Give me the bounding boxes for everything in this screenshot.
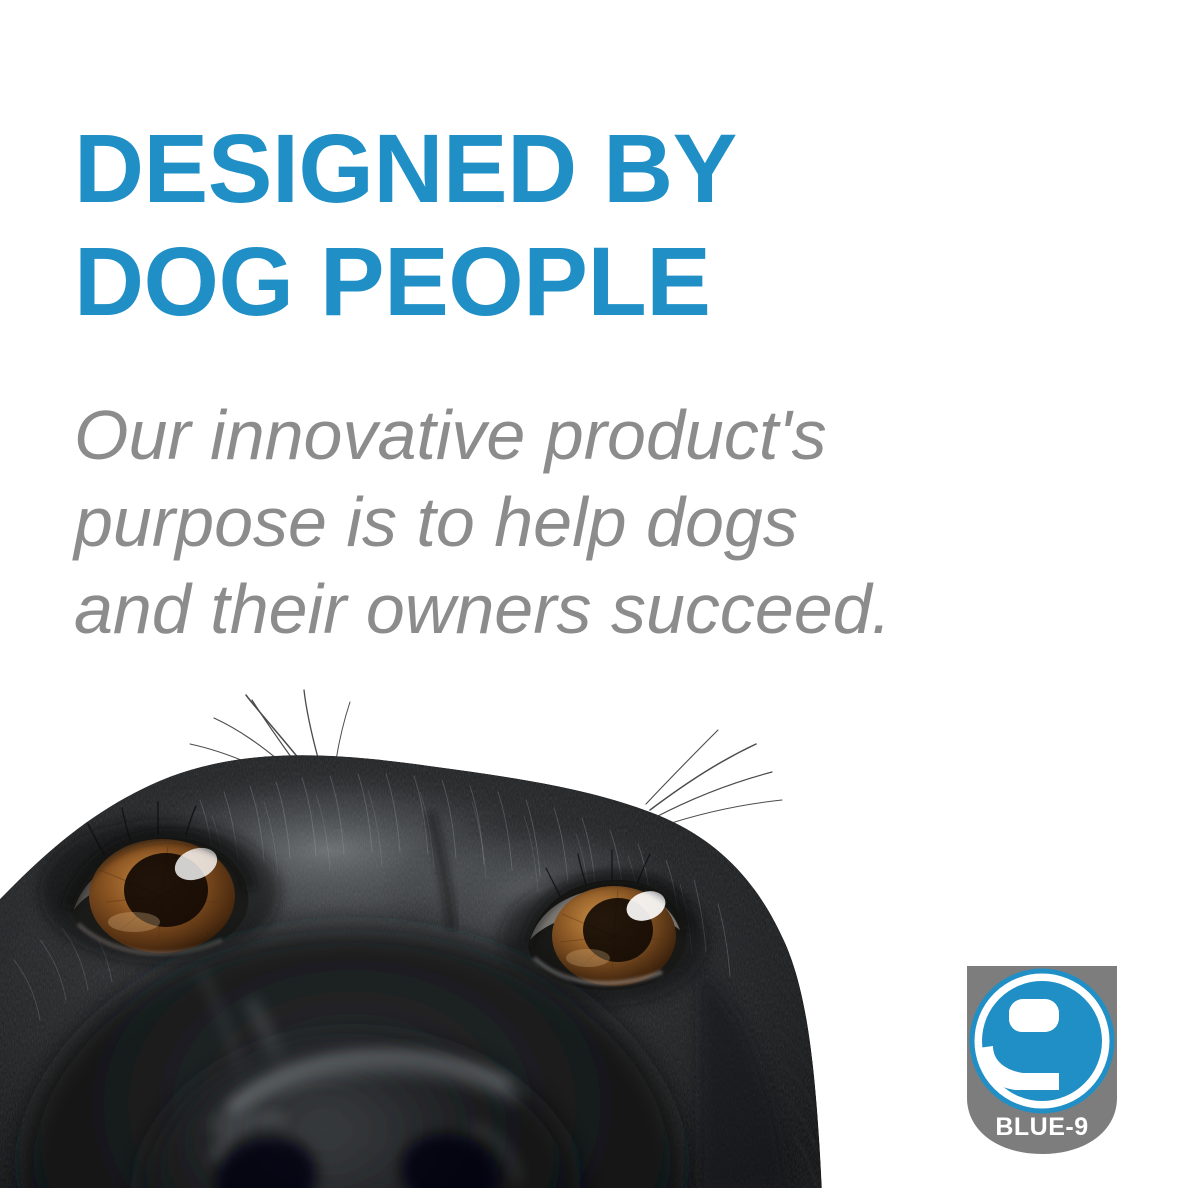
subtitle-line-2: purpose is to help dogs <box>74 479 1014 566</box>
subtitle: Our innovative product's purpose is to h… <box>74 392 1014 653</box>
headline-line-1: DESIGNED BY <box>74 112 834 225</box>
marketing-banner: DESIGNED BY DOG PEOPLE Our innovative pr… <box>0 0 1200 1200</box>
brand-logo[interactable]: BLUE-9 <box>963 962 1121 1162</box>
subtitle-line-1: Our innovative product's <box>74 392 1014 479</box>
blue9-logo-icon[interactable]: BLUE-9 <box>963 962 1121 1162</box>
logo-wordmark: BLUE-9 <box>995 1113 1088 1141</box>
page-title: DESIGNED BY DOG PEOPLE <box>74 112 834 338</box>
headline-line-2: DOG PEOPLE <box>74 225 834 338</box>
